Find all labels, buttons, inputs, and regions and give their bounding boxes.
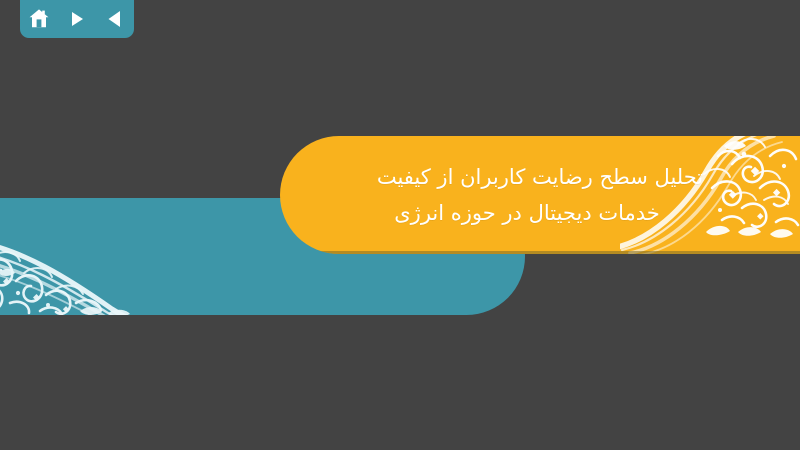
slide-canvas: تحلیل سطح رضایت کاربران از کیفیت خدمات د… (0, 0, 800, 450)
panel-bottom-rule (280, 251, 800, 254)
back-triangle-icon (104, 8, 126, 30)
forward-button[interactable] (58, 0, 96, 38)
title-panel (280, 136, 800, 254)
back-button[interactable] (96, 0, 134, 38)
home-icon (27, 7, 51, 31)
forward-triangle-icon (66, 8, 88, 30)
arabesque-corner-ornament-orange (620, 136, 800, 254)
navigation-bar (20, 0, 134, 38)
arabesque-corner-ornament-teal (0, 198, 170, 315)
home-button[interactable] (20, 0, 58, 38)
